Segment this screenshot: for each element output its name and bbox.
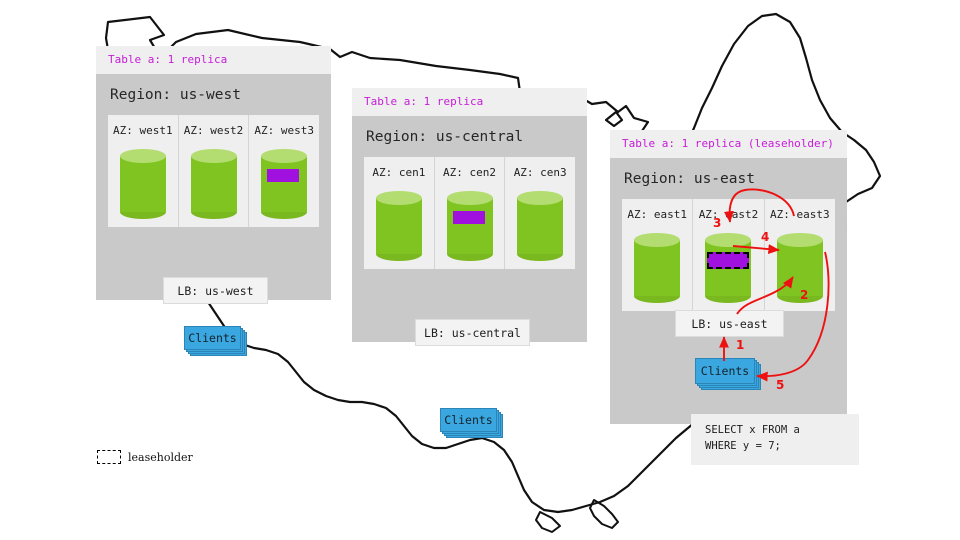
cylinder-body (634, 240, 680, 296)
region-title-us-east: Region: us-east (622, 158, 835, 199)
az-label-west2: AZ: west2 (184, 124, 244, 137)
az-label-east1: AZ: east1 (627, 208, 687, 221)
panel-body-us-west: Region: us-west AZ: west1 AZ: west2 (96, 74, 331, 300)
cylinder-top (447, 191, 493, 205)
leaseholder-range-block-east2[interactable] (707, 252, 749, 269)
arrow-number-3: 3 (713, 216, 721, 230)
arrow-number-5: 5 (776, 378, 784, 392)
replica-cylinder-cen3[interactable] (517, 191, 563, 255)
sql-query-box: SELECT x FROM a WHERE y = 7; (691, 414, 859, 465)
az-row-us-west: AZ: west1 AZ: west2 (108, 115, 319, 227)
cylinder-body (261, 156, 307, 212)
region-panel-us-central: Table a: 1 replica Region: us-central AZ… (352, 88, 587, 342)
clients-label-us-east[interactable]: Clients (695, 358, 755, 384)
load-balancer-us-east[interactable]: LB: us-east (675, 310, 784, 337)
arrow-number-2: 2 (800, 288, 808, 302)
replica-cylinder-west1[interactable] (120, 149, 166, 213)
cylinder-top (120, 149, 166, 163)
replica-cylinder-west3[interactable] (261, 149, 307, 213)
panel-header-us-west: Table a: 1 replica (96, 46, 331, 74)
cylinder-top (376, 191, 422, 205)
load-balancer-us-west[interactable]: LB: us-west (163, 277, 268, 304)
replica-cylinder-cen1[interactable] (376, 191, 422, 255)
az-label-west1: AZ: west1 (113, 124, 173, 137)
panel-header-us-east: Table a: 1 replica (leaseholder) (610, 130, 847, 158)
leaseholder-swatch-icon (97, 450, 121, 464)
az-cell-east1[interactable]: AZ: east1 (622, 199, 693, 311)
replica-cylinder-east1[interactable] (634, 233, 680, 297)
arrow-number-4: 4 (761, 230, 769, 244)
replica-cylinder-east2[interactable] (705, 233, 751, 297)
clients-stack-us-west[interactable]: Clients (184, 326, 246, 356)
az-row-us-central: AZ: cen1 AZ: cen2 (364, 157, 575, 269)
diagram-stage: Table a: 1 replica Region: us-west AZ: w… (0, 0, 960, 540)
cylinder-body (376, 198, 422, 254)
load-balancer-us-central[interactable]: LB: us-central (415, 319, 530, 346)
az-cell-east2[interactable]: AZ: east2 (693, 199, 764, 311)
az-cell-cen3[interactable]: AZ: cen3 (505, 157, 575, 269)
cylinder-body (191, 156, 237, 212)
region-title-us-west: Region: us-west (108, 74, 319, 115)
az-cell-cen2[interactable]: AZ: cen2 (435, 157, 506, 269)
replica-range-block-cen2[interactable] (453, 211, 485, 224)
replica-cylinder-west2[interactable] (191, 149, 237, 213)
cylinder-top (191, 149, 237, 163)
panel-header-us-central: Table a: 1 replica (352, 88, 587, 116)
region-panel-us-west: Table a: 1 replica Region: us-west AZ: w… (96, 46, 331, 300)
cylinder-body (517, 198, 563, 254)
replica-cylinder-cen2[interactable] (447, 191, 493, 255)
az-label-cen3: AZ: cen3 (514, 166, 567, 179)
az-label-east3: AZ: east3 (770, 208, 830, 221)
replica-range-block-west3[interactable] (267, 169, 299, 182)
az-label-cen1: AZ: cen1 (372, 166, 425, 179)
clients-label-us-west[interactable]: Clients (184, 326, 241, 350)
az-cell-west3[interactable]: AZ: west3 (249, 115, 319, 227)
az-label-west3: AZ: west3 (254, 124, 314, 137)
legend: leaseholder (97, 450, 193, 464)
cylinder-body (120, 156, 166, 212)
cylinder-body (447, 198, 493, 254)
region-title-us-central: Region: us-central (364, 116, 575, 157)
panel-body-us-central: Region: us-central AZ: cen1 AZ: cen2 (352, 116, 587, 342)
clients-stack-us-east[interactable]: Clients (695, 358, 761, 390)
cylinder-top (777, 233, 823, 247)
region-panel-us-east: Table a: 1 replica (leaseholder) Region:… (610, 130, 847, 424)
az-label-east2: AZ: east2 (699, 208, 759, 221)
az-label-cen2: AZ: cen2 (443, 166, 496, 179)
arrow-number-1: 1 (736, 338, 744, 352)
az-cell-cen1[interactable]: AZ: cen1 (364, 157, 435, 269)
az-cell-west1[interactable]: AZ: west1 (108, 115, 179, 227)
legend-label-leaseholder: leaseholder (128, 451, 193, 464)
clients-stack-us-central[interactable]: Clients (440, 408, 502, 438)
clients-label-us-central[interactable]: Clients (440, 408, 497, 432)
az-cell-west2[interactable]: AZ: west2 (179, 115, 250, 227)
